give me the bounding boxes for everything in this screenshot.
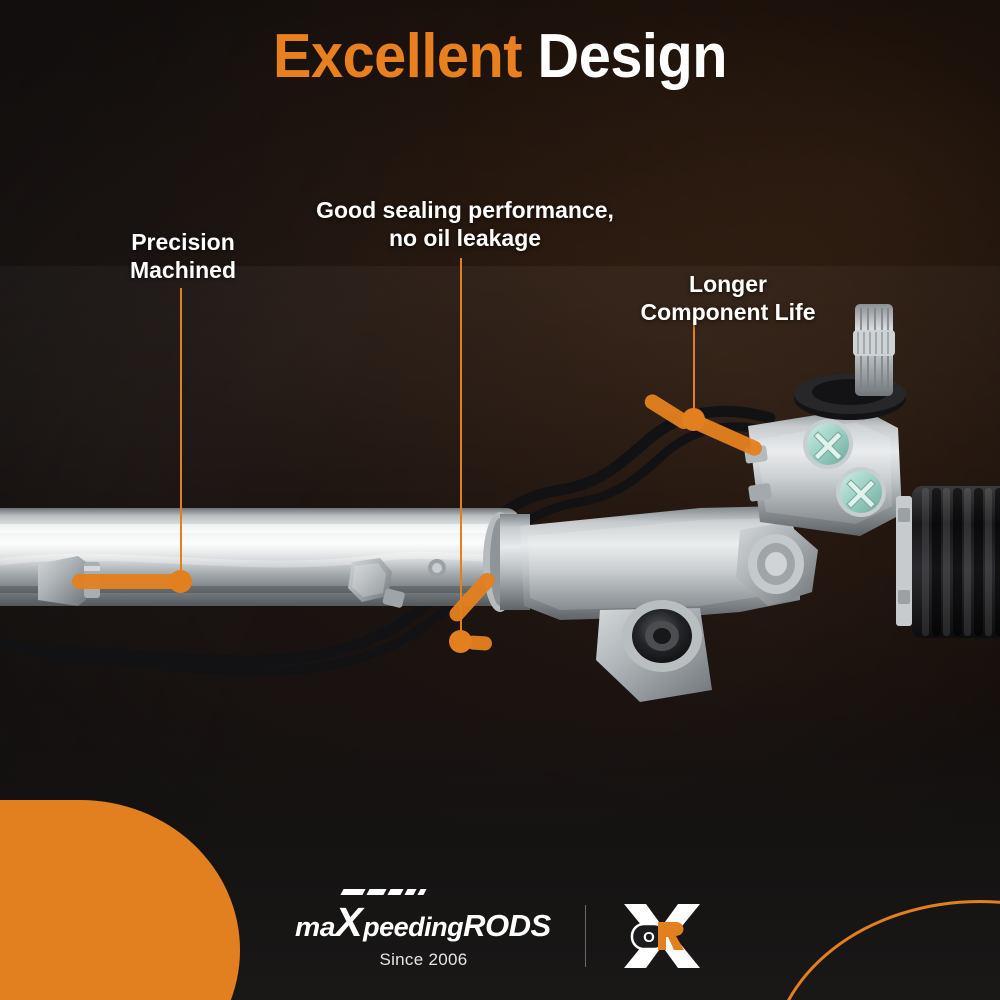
- page-title: Excellent Design: [35, 26, 965, 88]
- footer-divider: [585, 905, 586, 967]
- callout-label-precision: Precision Machined: [103, 228, 263, 284]
- brand-maxpeedingrods: ma X peeding RODS Since 2006: [296, 902, 550, 970]
- callout-label-longer-life: Longer Component Life: [598, 270, 858, 326]
- badge-letter-o: O: [643, 929, 655, 946]
- callout-label-sealing: Good sealing performance, no oil leakage: [285, 196, 645, 252]
- callout-dot-precision: [169, 570, 192, 593]
- product-illustration: [0, 300, 1000, 730]
- brand-badge-xor: O: [620, 900, 704, 972]
- callout-dot-sealing: [449, 630, 472, 653]
- teal-cap-lower: [836, 467, 886, 517]
- bellows-boot: [896, 486, 1000, 638]
- footer-brand-lockup: ma X peeding RODS Since 2006 O: [0, 900, 1000, 972]
- pinion-input-shaft: [853, 304, 895, 396]
- speed-streaks-icon: [342, 889, 425, 895]
- page-title-plain: Design: [538, 22, 727, 91]
- leader-line-longer-life: [693, 318, 695, 418]
- page-title-accent: Excellent: [273, 22, 522, 91]
- brand-since-text: Since 2006: [379, 950, 467, 970]
- feature-graphic-canvas: Excellent Design: [0, 0, 1000, 1000]
- leader-line-sealing: [460, 258, 462, 638]
- brand-part-peeding: peeding: [363, 914, 463, 941]
- teal-cap-upper: [803, 419, 853, 469]
- brand-part-rods: RODS: [463, 910, 551, 941]
- leader-line-precision: [180, 288, 182, 578]
- brand-part-x: X: [334, 902, 363, 943]
- callout-dot-longer-life: [682, 408, 705, 431]
- brand-part-ma: ma: [295, 914, 335, 941]
- brand-wordmark: ma X peeding RODS: [296, 902, 550, 943]
